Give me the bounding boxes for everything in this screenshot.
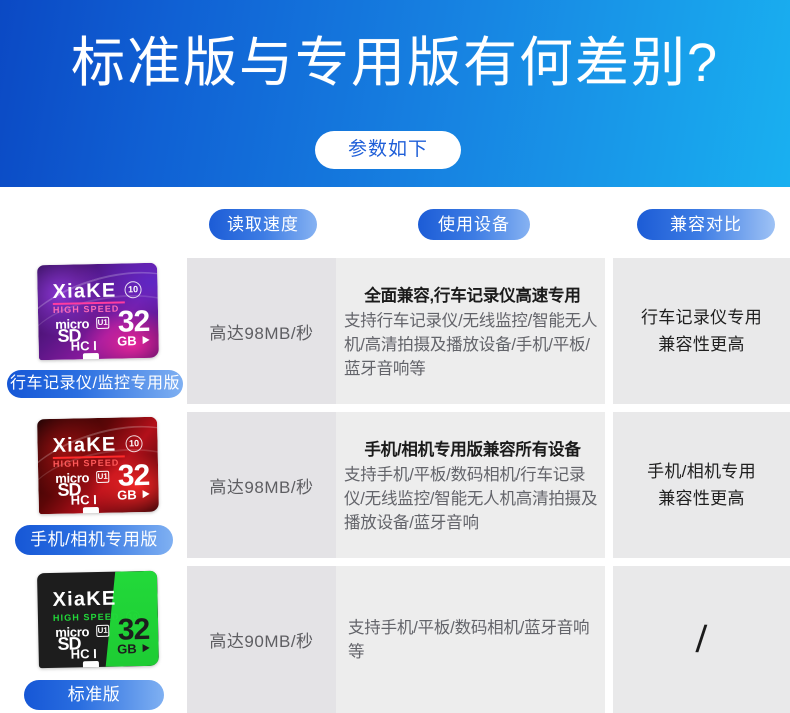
- card-notch: [83, 353, 99, 360]
- compatibility-cell: /: [613, 566, 790, 713]
- read-speed-cell: 高达98MB/秒: [187, 258, 336, 404]
- product-card-art: XiaKE HIGH SPEED 10 micro SD HC I U1 32 …: [0, 258, 187, 404]
- table-row: XiaKE HIGH SPEED 10 micro SD HC I U1 32 …: [0, 412, 790, 558]
- product-cell: XiaKE HIGH SPEED 10 micro SD HC I U1 32 …: [0, 566, 187, 713]
- product-cell: XiaKE HIGH SPEED 10 micro SD HC I U1 32 …: [0, 412, 187, 558]
- card-capacity-unit: GB: [117, 642, 137, 655]
- play-triangle-icon: [143, 336, 150, 344]
- column-header-compatibility: 兼容对比: [637, 209, 775, 240]
- read-speed-value: 高达90MB/秒: [209, 627, 313, 652]
- devices-body: 支持手机/平板/数码相机/行车记录仪/无线监控/智能无人机高清拍摄及播放设备/蓝…: [344, 463, 601, 535]
- devices-body: 支持行车记录仪/无线监控/智能无人机/高清拍摄及播放设备/手机/平板/蓝牙音响等: [344, 309, 601, 381]
- compatibility-line-1: 手机/相机专用: [647, 458, 756, 485]
- microsd-card-image: XiaKE HIGH SPEED 10 micro SD HC I U1 32 …: [37, 571, 159, 668]
- compatibility-cell: 手机/相机专用 兼容性更高: [613, 412, 790, 558]
- play-triangle-icon: [143, 644, 150, 652]
- card-tagline-text: HIGH SPEED: [53, 304, 120, 316]
- read-speed-value: 高达98MB/秒: [209, 473, 313, 498]
- hero-banner: 标准版与专用版有何差别? 参数如下: [0, 0, 790, 187]
- product-card-art: XiaKE HIGH SPEED 10 micro SD HC I U1 32 …: [0, 412, 187, 558]
- uhs-class-badge: U1: [96, 317, 109, 329]
- page-title: 标准版与专用版有何差别?: [0, 28, 790, 98]
- devices-cell: 手机/相机专用版兼容所有设备 支持手机/平板/数码相机/行车记录仪/无线监控/智…: [336, 412, 605, 558]
- uhs-class-badge: U1: [96, 471, 109, 483]
- card-brand-text: XiaKE: [52, 589, 116, 610]
- devices-cell: 支持手机/平板/数码相机/蓝牙音响等: [336, 566, 605, 713]
- product-label-pill: 行车记录仪/监控专用版: [7, 370, 183, 398]
- play-triangle-icon: [143, 490, 150, 498]
- uhs-class-badge: U1: [96, 625, 109, 637]
- compatibility-line-2: 兼容性更高: [658, 485, 745, 512]
- comparison-page: 标准版与专用版有何差别? 参数如下 读取速度 使用设备 兼容对比 XiaKE H…: [0, 0, 790, 713]
- comparison-table: XiaKE HIGH SPEED 10 micro SD HC I U1 32 …: [0, 258, 790, 713]
- devices-title: 全面兼容,行车记录仪高速专用: [344, 282, 601, 306]
- parameters-pill[interactable]: 参数如下: [315, 131, 461, 169]
- card-tagline-text: HIGH SPEED: [53, 458, 120, 470]
- compatibility-cell: 行车记录仪专用 兼容性更高: [613, 258, 790, 404]
- compatibility-line-2: 兼容性更高: [658, 331, 745, 358]
- devices-cell: 全面兼容,行车记录仪高速专用 支持行车记录仪/无线监控/智能无人机/高清拍摄及播…: [336, 258, 605, 404]
- card-hc-i-text: HC I: [71, 492, 97, 508]
- product-label-pill: 标准版: [24, 680, 164, 710]
- microsd-card-image: XiaKE HIGH SPEED 10 micro SD HC I U1 32 …: [37, 263, 159, 360]
- read-speed-cell: 高达90MB/秒: [187, 566, 336, 713]
- product-card-art: XiaKE HIGH SPEED 10 micro SD HC I U1 32 …: [0, 566, 187, 713]
- devices-body: 支持手机/平板/数码相机/蓝牙音响等: [344, 616, 601, 664]
- devices-title: 手机/相机专用版兼容所有设备: [344, 436, 601, 460]
- read-speed-cell: 高达98MB/秒: [187, 412, 336, 558]
- compatibility-line-1: /: [695, 620, 708, 659]
- card-notch: [83, 507, 99, 514]
- card-capacity-unit: GB: [117, 488, 137, 501]
- column-header-read-speed: 读取速度: [209, 209, 317, 240]
- card-hc-i-text: HC I: [71, 646, 97, 662]
- read-speed-value: 高达98MB/秒: [209, 319, 313, 344]
- card-notch: [83, 661, 99, 668]
- table-row: XiaKE HIGH SPEED 10 micro SD HC I U1 32 …: [0, 566, 790, 713]
- column-header-devices: 使用设备: [418, 209, 530, 240]
- card-tagline-text: HIGH SPEED: [53, 612, 120, 624]
- column-headers: 读取速度 使用设备 兼容对比: [0, 209, 790, 240]
- card-brand-text: XiaKE: [52, 281, 116, 302]
- table-row: XiaKE HIGH SPEED 10 micro SD HC I U1 32 …: [0, 258, 790, 404]
- card-hc-i-text: HC I: [71, 338, 97, 354]
- microsd-card-image: XiaKE HIGH SPEED 10 micro SD HC I U1 32 …: [37, 417, 159, 514]
- product-label-pill: 手机/相机专用版: [15, 525, 173, 555]
- card-capacity-unit: GB: [117, 334, 137, 347]
- compatibility-line-1: 行车记录仪专用: [641, 304, 762, 331]
- product-cell: XiaKE HIGH SPEED 10 micro SD HC I U1 32 …: [0, 258, 187, 404]
- card-brand-text: XiaKE: [52, 435, 116, 456]
